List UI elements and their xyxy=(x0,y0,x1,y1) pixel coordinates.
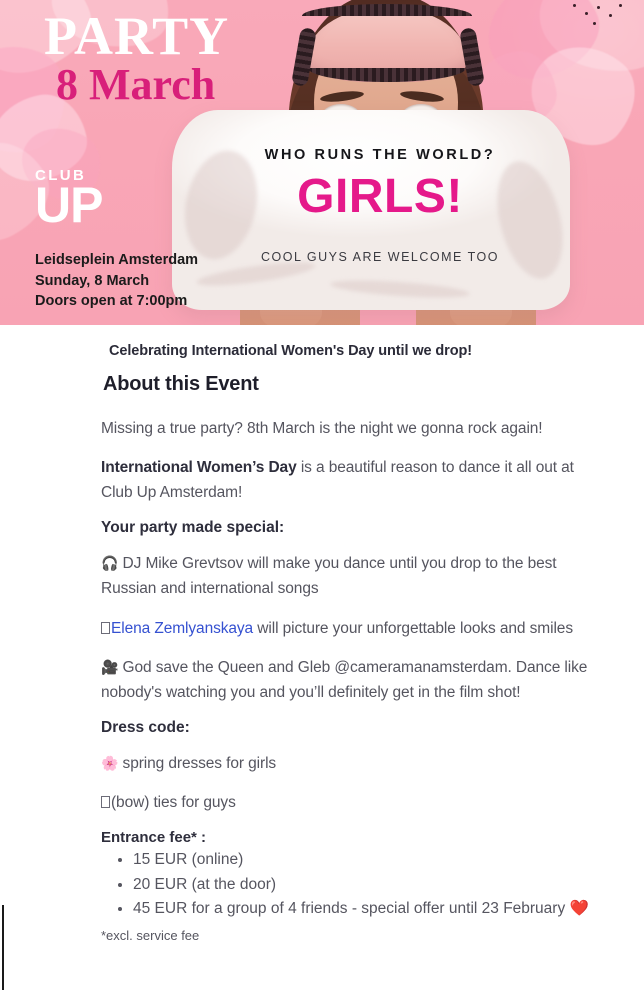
event-description: Celebrating International Women's Day un… xyxy=(0,325,644,943)
intro-paragraph: Missing a true party? 8th March is the n… xyxy=(101,416,590,441)
dress-code-heading: Dress code: xyxy=(101,719,590,737)
venue-day: Sunday, 8 March xyxy=(35,271,198,292)
about-this-event-heading: About this Event xyxy=(103,373,590,396)
fee-footnote: *excl. service fee xyxy=(101,928,590,943)
event-tagline: Celebrating International Women's Day un… xyxy=(109,343,590,359)
videographer-text: God save the Queen and Gleb @cameramanam… xyxy=(101,659,587,701)
venue-details: Leidseplein Amsterdam Sunday, 8 March Do… xyxy=(35,250,198,312)
dress-guys-text: (bow) ties for guys xyxy=(111,794,236,811)
photographer-text: will picture your unforgettable looks an… xyxy=(253,620,573,637)
banner-date: 8 March xyxy=(56,62,215,109)
pillow-tagline-note: COOL GUYS ARE WELCOME TOO xyxy=(215,250,545,264)
camera-photo-icon xyxy=(101,622,110,634)
logo-up-text: UP xyxy=(35,184,102,227)
dress-girls-text: spring dresses for girls xyxy=(118,755,276,772)
entrance-fee-heading: Entrance fee* : xyxy=(101,829,590,846)
list-item: 15 EUR (online) xyxy=(133,848,590,872)
bow-tie-icon xyxy=(101,796,110,808)
womens-day-bold: International Women’s Day xyxy=(101,459,297,476)
pillow-tagline-answer: GIRLS! xyxy=(215,170,545,224)
movie-camera-icon: 🎥 xyxy=(101,660,118,676)
videographer-line: 🎥 God save the Queen and Gleb @cameraman… xyxy=(101,655,590,705)
womens-day-paragraph: International Women’s Day is a beautiful… xyxy=(101,455,590,505)
photographer-line: Elena Zemlyanskaya will picture your unf… xyxy=(101,616,590,641)
cherry-blossom-icon: 🌸 xyxy=(101,756,118,772)
pillow-tagline-question: WHO RUNS THE WORLD? xyxy=(215,147,545,163)
banner-title: PARTY xyxy=(44,8,229,65)
dress-code-guys: (bow) ties for guys xyxy=(101,790,590,815)
dress-code-girls: 🌸 spring dresses for girls xyxy=(101,751,590,776)
list-item: 20 EUR (at the door) xyxy=(133,873,590,897)
dj-line: 🎧 DJ Mike Grevtsov will make you dance u… xyxy=(101,551,590,601)
venue-location: Leidseplein Amsterdam xyxy=(35,250,198,271)
venue-doors-time: Doors open at 7:00pm xyxy=(35,291,198,312)
headphones-icon: 🎧 xyxy=(101,556,118,572)
entrance-fee-list: 15 EUR (online) 20 EUR (at the door) 45 … xyxy=(101,848,590,921)
event-hero-banner: PARTY 8 March CLUB UP Leidseplein Amster… xyxy=(0,0,644,325)
left-edge-rule xyxy=(2,905,4,990)
party-special-heading: Your party made special: xyxy=(101,519,590,537)
dj-text: DJ Mike Grevtsov will make you dance unt… xyxy=(101,555,556,597)
club-up-logo: CLUB UP xyxy=(35,168,102,227)
photographer-link[interactable]: Elena Zemlyanskaya xyxy=(111,620,253,637)
list-item: 45 EUR for a group of 4 friends - specia… xyxy=(133,897,590,921)
